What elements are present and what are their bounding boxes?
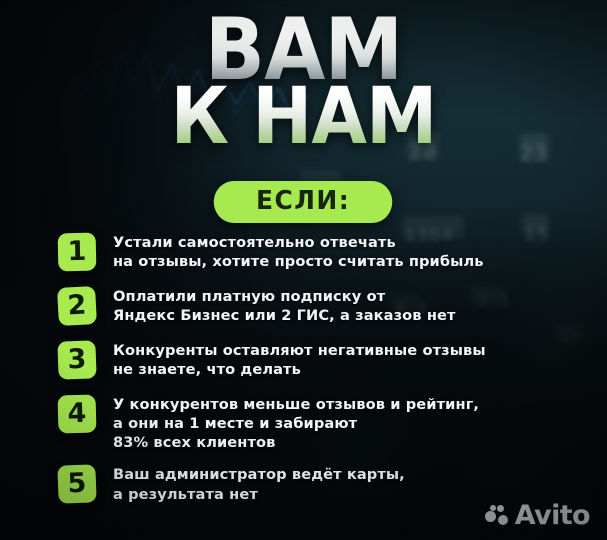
list-item-number-badge: 3 — [57, 340, 96, 379]
list-item-number-badge: 1 — [58, 233, 97, 272]
avito-brand-text: Avito — [515, 502, 590, 529]
list-item-line: Оплатили платную подписку от — [113, 287, 456, 306]
list-item-text: Ваш администратор ведёт карты, а результ… — [113, 464, 405, 504]
list-item: 4 У конкурентов меньше отзывов и рейтинг… — [58, 394, 589, 453]
headline-line-2: К НАМ — [24, 84, 582, 151]
list-item: 1 Устали самостоятельно отвечать на отзы… — [58, 232, 589, 272]
list-item-line: Устали самостоятельно отвечать — [113, 233, 484, 252]
avito-watermark: Avito — [485, 502, 590, 529]
list-item-line: Конкуренты оставляют негативные отзывы — [113, 341, 486, 360]
list-item-number-badge: 4 — [58, 394, 97, 433]
list-item-text: Конкуренты оставляют негативные отзывы н… — [113, 340, 486, 380]
condition-pill-wrap: ЕСЛИ: — [0, 181, 607, 223]
list-item-line: Ваш администратор ведёт карты, — [113, 465, 405, 484]
list-item: 5 Ваш администратор ведёт карты, а резул… — [58, 464, 589, 504]
list-item-line: У конкурентов меньше отзывов и рейтинг, — [113, 395, 479, 414]
list-item-number-badge: 2 — [57, 286, 97, 326]
condition-pill: ЕСЛИ: — [214, 181, 393, 223]
avito-dots-icon — [485, 505, 510, 527]
list-item-line: а они на 1 месте и забирают — [113, 414, 479, 433]
list-item-text: У конкурентов меньше отзывов и рейтинг, … — [113, 394, 479, 453]
list-item: 3 Конкуренты оставляют негативные отзывы… — [58, 340, 589, 380]
list-item-line: на отзывы, хотите просто считать прибыль — [113, 252, 484, 271]
promo-creative-canvas: 28231513642.10.847 ВАМ К НАМ ЕСЛИ: 1 Уст… — [0, 0, 607, 540]
list-item-line: 83% всех клиентов — [113, 433, 479, 452]
list-item-number-badge: 5 — [57, 465, 96, 504]
list-item: 2 Оплатили платную подписку от Яндекс Би… — [58, 286, 589, 326]
list-item-text: Устали самостоятельно отвечать на отзывы… — [113, 232, 484, 272]
benefits-list: 1 Устали самостоятельно отвечать на отзы… — [58, 232, 589, 504]
headline: ВАМ К НАМ — [0, 14, 607, 151]
list-item-line: Яндекс Бизнес или 2 ГИС, а заказов нет — [113, 306, 456, 325]
list-item-text: Оплатили платную подписку от Яндекс Бизн… — [113, 286, 456, 326]
list-item-line: не знаете, что делать — [113, 360, 486, 379]
list-item-line: а результата нет — [113, 485, 405, 504]
